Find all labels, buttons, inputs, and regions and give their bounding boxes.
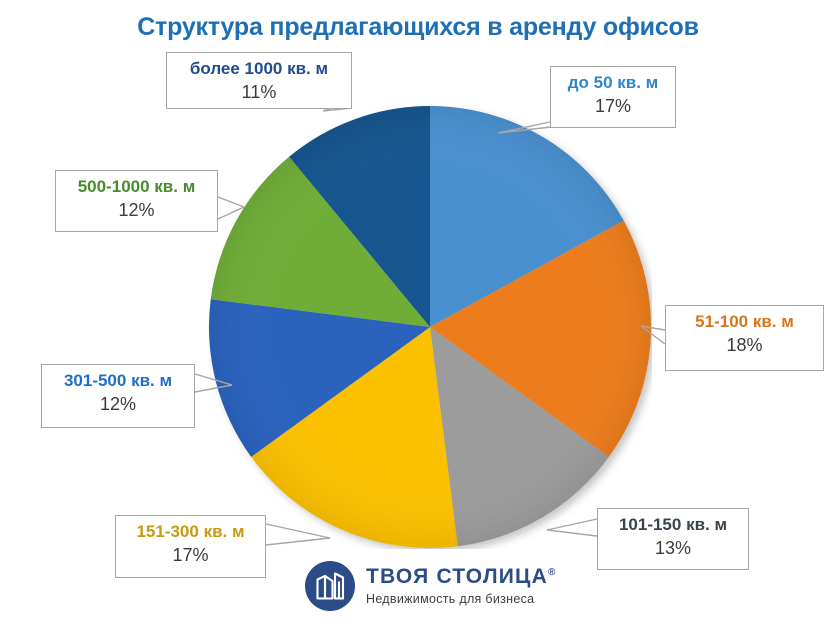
pie-label-name: 51-100 кв. м [666, 312, 823, 332]
pie-label-151-300: 151-300 кв. м 17% [115, 515, 266, 578]
pie-chart-svg [208, 105, 652, 549]
logo-text-block: ТВОЯ СТОЛИЦА® Недвижимость для бизнеса [366, 566, 555, 606]
chart-canvas: Структура предлагающихся в аренду офисов [0, 0, 836, 626]
pie-label-percent: 17% [116, 545, 265, 566]
pie-label-percent: 13% [598, 538, 748, 559]
pie-label-name: более 1000 кв. м [167, 59, 351, 79]
pie-label-do-50: до 50 кв. м 17% [550, 66, 676, 128]
logo-tagline: Недвижимость для бизнеса [366, 592, 555, 606]
pie-chart [208, 105, 652, 549]
pie-label-name: 151-300 кв. м [116, 522, 265, 542]
pie-label-more-1000: более 1000 кв. м 11% [166, 52, 352, 109]
pie-label-500-1000: 500-1000 кв. м 12% [55, 170, 218, 232]
pie-label-percent: 11% [167, 82, 351, 103]
pie-label-51-100: 51-100 кв. м 18% [665, 305, 824, 371]
pie-label-name: 301-500 кв. м [42, 371, 194, 391]
pie-label-101-150: 101-150 кв. м 13% [597, 508, 749, 570]
company-logo: ТВОЯ СТОЛИЦА® Недвижимость для бизнеса [304, 559, 576, 613]
logo-company-name: ТВОЯ СТОЛИЦА® [366, 566, 555, 587]
logo-company-name-text: ТВОЯ СТОЛИЦА [366, 565, 548, 588]
pie-shading-overlay [209, 106, 651, 548]
pie-label-percent: 12% [56, 200, 217, 221]
registered-mark-icon: ® [548, 567, 555, 578]
page-title: Структура предлагающихся в аренду офисов [0, 13, 836, 42]
pie-label-percent: 17% [551, 96, 675, 117]
pie-label-percent: 12% [42, 394, 194, 415]
pie-label-percent: 18% [666, 335, 823, 356]
pie-label-301-500: 301-500 кв. м 12% [41, 364, 195, 428]
pie-label-name: 500-1000 кв. м [56, 177, 217, 197]
pie-label-name: 101-150 кв. м [598, 515, 748, 535]
pie-label-name: до 50 кв. м [551, 73, 675, 93]
building-circle-icon [304, 560, 356, 612]
